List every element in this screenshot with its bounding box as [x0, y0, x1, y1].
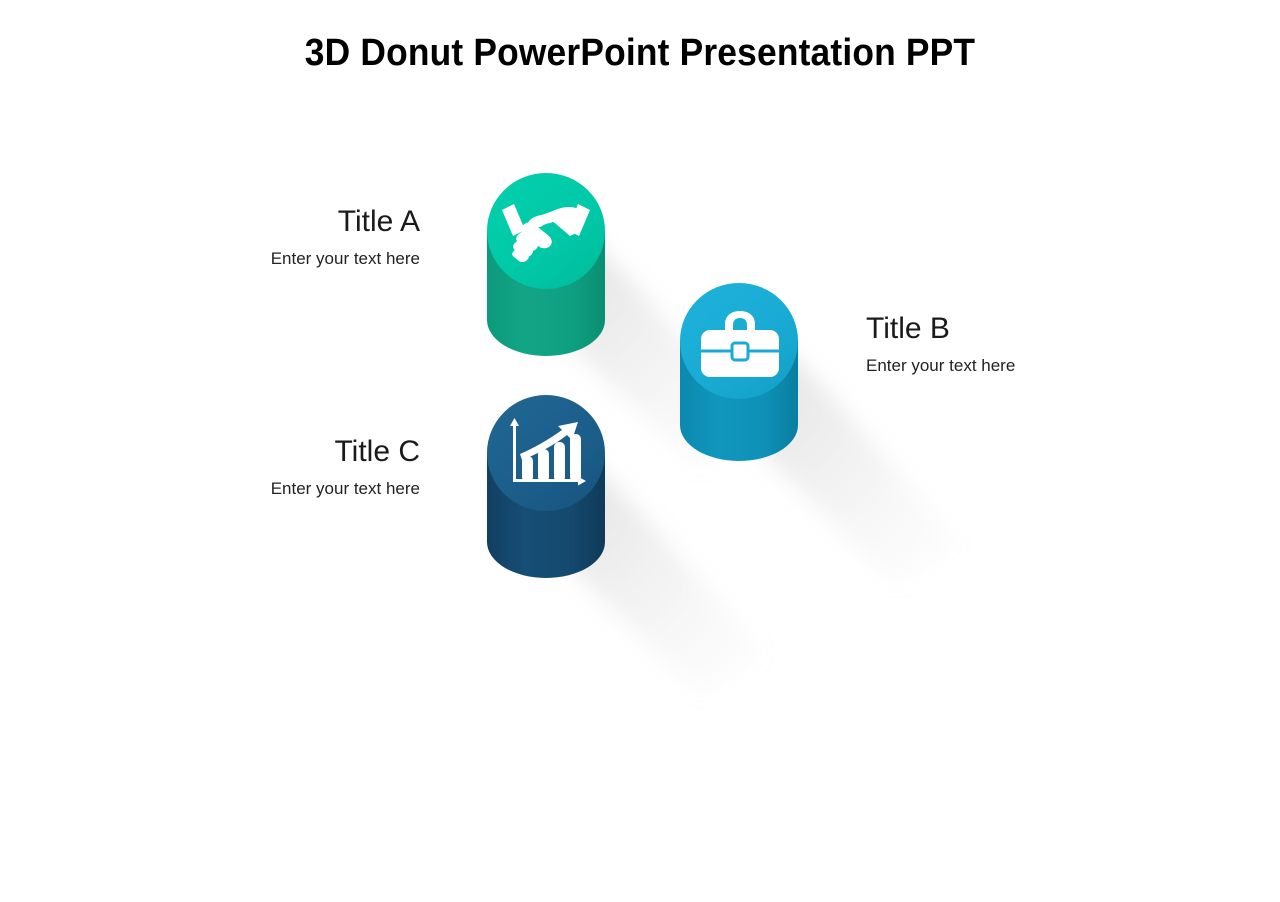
- item-title-c: Title C: [130, 436, 420, 468]
- text-block-b: Title B Enter your text here: [866, 313, 1166, 376]
- item-title-a: Title A: [130, 206, 420, 238]
- item-body-b: Enter your text here: [866, 356, 1166, 376]
- text-block-c: Title C Enter your text here: [130, 436, 420, 499]
- item-body-c: Enter your text here: [130, 479, 420, 499]
- item-title-b: Title B: [866, 313, 1166, 345]
- handshake-icon: [494, 188, 598, 278]
- text-block-a: Title A Enter your text here: [130, 206, 420, 269]
- slide-canvas: 3D Donut PowerPoint Presentation PPT: [0, 0, 1280, 720]
- item-body-a: Enter your text here: [130, 249, 420, 269]
- briefcase-icon: [688, 300, 792, 390]
- bar-chart-growth-icon: [494, 412, 598, 500]
